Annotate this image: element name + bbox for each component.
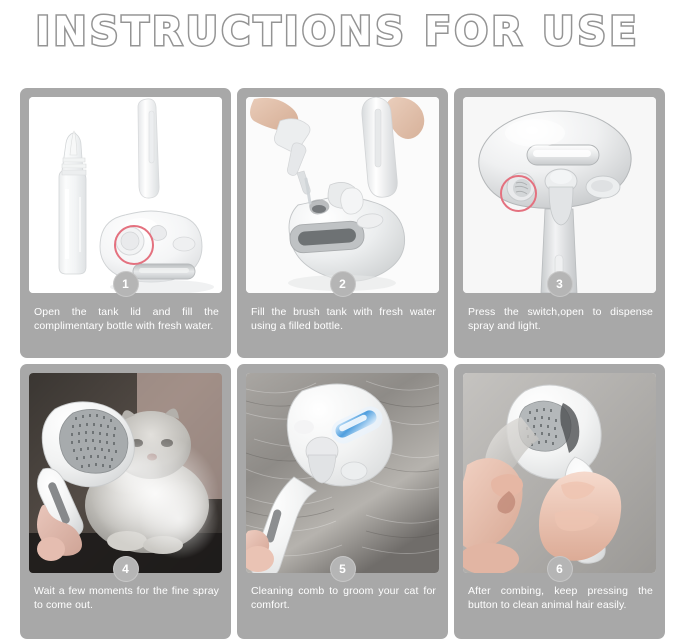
switch-button-highlight <box>500 175 537 212</box>
step1-illustration <box>29 97 222 293</box>
step-caption: Fill the brush tank with fresh water usi… <box>237 293 448 358</box>
step-card-2: 2 Fill the brush tank with fresh water u… <box>237 88 448 358</box>
step-card-3: 3 Press the switch,open to dispense spra… <box>454 88 665 358</box>
bottle-and-brush-base-photo <box>29 97 222 293</box>
step-number-badge: 1 <box>113 271 139 297</box>
tank-lid-button-highlight <box>114 225 154 265</box>
step-number-badge: 5 <box>330 556 356 582</box>
step-card-1: 1 Open the tank lid and fill the complim… <box>20 88 231 358</box>
step3-illustration <box>463 97 656 293</box>
hands-removing-hair-from-brush-photo <box>463 373 656 573</box>
step-number-badge: 4 <box>113 556 139 582</box>
step-card-5: 5 Cleaning comb to groom your cat for co… <box>237 364 448 639</box>
step-card-4: 4 Wait a few moments for the fine spray … <box>20 364 231 639</box>
filling-tank-with-bottle-photo <box>246 97 439 293</box>
step5-illustration <box>246 373 439 573</box>
step-caption: After combing, keep pressing the button … <box>454 573 665 639</box>
poster-title-container: INSTRUCTIONS FOR USE <box>0 8 675 56</box>
step-card-6: 6 After combing, keep pressing the butto… <box>454 364 665 639</box>
brush-grooming-cat-fur-photo <box>246 373 439 573</box>
step-number-badge: 2 <box>330 271 356 297</box>
step-caption: Open the tank lid and fill the complimen… <box>20 293 231 358</box>
step-number-badge: 3 <box>547 271 573 297</box>
steps-grid: 1 Open the tank lid and fill the complim… <box>20 88 655 639</box>
instructions-poster: INSTRUCTIONS FOR USE <box>0 0 675 639</box>
step-caption: Cleaning comb to groom your cat for comf… <box>237 573 448 639</box>
step-caption: Wait a few moments for the fine spray to… <box>20 573 231 639</box>
step-number-badge: 6 <box>547 556 573 582</box>
step4-illustration <box>29 373 222 573</box>
step2-illustration <box>246 97 439 293</box>
step6-illustration <box>463 373 656 573</box>
page-title: INSTRUCTIONS FOR USE <box>35 8 639 56</box>
brush-head-switch-closeup-photo <box>463 97 656 293</box>
brush-spraying-mist-at-cat-photo <box>29 373 222 573</box>
step-caption: Press the switch,open to dispense spray … <box>454 293 665 358</box>
